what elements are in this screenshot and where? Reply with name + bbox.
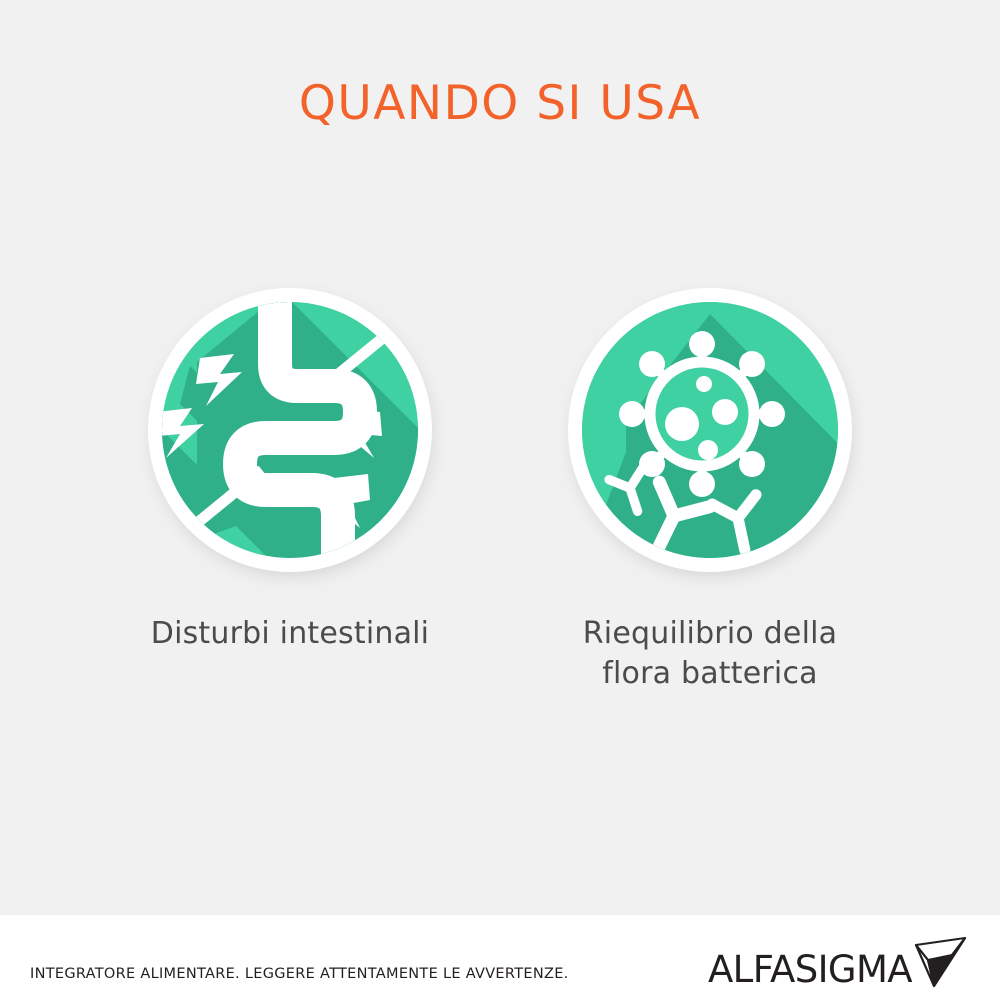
badge-green-disc [162, 302, 418, 558]
virus-antibody-icon [582, 302, 838, 558]
benefit-card-intestinal: Disturbi intestinali [145, 288, 435, 654]
poster-canvas: QUANDO SI USA [0, 0, 1000, 1000]
badge-green-disc [582, 302, 838, 558]
brand-wordmark: ALFASIGMA [708, 948, 912, 991]
page-title: QUANDO SI USA [0, 76, 1000, 131]
benefit-caption-flora: Riequilibrio della flora batterica [583, 614, 837, 694]
footer-bar: INTEGRATORE ALIMENTARE. LEGGERE ATTENTAM… [0, 915, 1000, 1000]
badge-flora [568, 288, 852, 572]
brand-lockup: ALFASIGMA [708, 934, 970, 990]
benefit-card-flora: Riequilibrio della flora batterica [565, 288, 855, 694]
badge-intestinal [148, 288, 432, 572]
intestine-pain-icon [162, 302, 418, 558]
alfasigma-pyramid-icon [908, 934, 970, 990]
disclaimer-text: INTEGRATORE ALIMENTARE. LEGGERE ATTENTAM… [30, 966, 569, 982]
benefits-list: Disturbi intestinali [0, 288, 1000, 694]
benefit-caption-intestinal: Disturbi intestinali [151, 614, 429, 654]
